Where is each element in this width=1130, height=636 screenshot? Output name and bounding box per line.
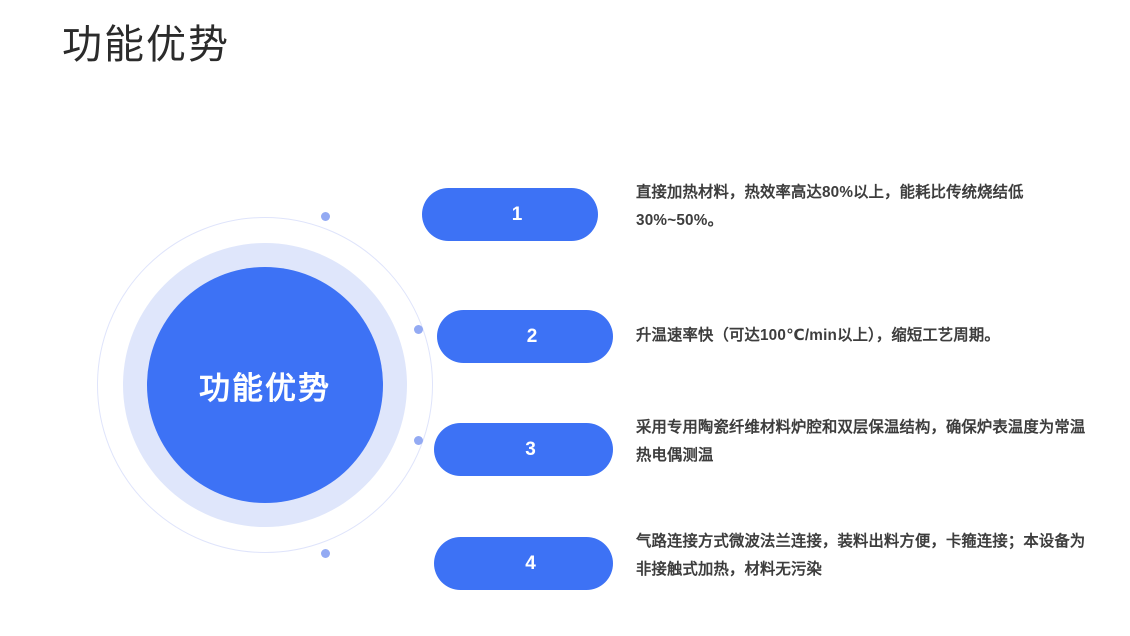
feature-number-1: 1 [422, 188, 598, 241]
feature-row-3: 3 采用专用陶瓷纤维材料炉腔和双层保温结构，确保炉表温度为常温热电偶测温 [0, 423, 1130, 476]
feature-row-4: 4 气路连接方式微波法兰连接，装料出料方便，卡箍连接；本设备为非接触式加热，材料… [0, 537, 1130, 590]
feature-pill-2[interactable]: 2 [437, 310, 613, 363]
feature-text-1: 直接加热材料，热效率高达80%以上，能耗比传统烧结低30%~50%。 [636, 179, 1091, 235]
feature-row-2: 2 升温速率快（可达100℃/min以上），缩短工艺周期。 [0, 310, 1130, 363]
feature-text-4: 气路连接方式微波法兰连接，装料出料方便，卡箍连接；本设备为非接触式加热，材料无污… [636, 528, 1091, 584]
core-circle-label: 功能优势 [199, 363, 331, 408]
feature-pill-4[interactable]: 4 [434, 537, 613, 590]
feature-pill-3[interactable]: 3 [434, 423, 613, 476]
page-title: 功能优势 [62, 22, 230, 68]
slide-canvas: 功能优势 功能优势 1 直接加热材料，热效率高达80%以上，能耗比传统烧结低30… [0, 0, 1130, 636]
feature-number-4: 4 [434, 537, 613, 590]
feature-number-3: 3 [434, 423, 613, 476]
feature-number-2: 2 [437, 310, 613, 363]
feature-text-2: 升温速率快（可达100℃/min以上），缩短工艺周期。 [636, 322, 1091, 350]
feature-pill-1[interactable]: 1 [422, 188, 598, 241]
feature-text-3: 采用专用陶瓷纤维材料炉腔和双层保温结构，确保炉表温度为常温热电偶测温 [636, 414, 1091, 470]
feature-row-1: 1 直接加热材料，热效率高达80%以上，能耗比传统烧结低30%~50%。 [0, 188, 1130, 241]
center-circle-graphic: 功能优势 [97, 217, 433, 553]
